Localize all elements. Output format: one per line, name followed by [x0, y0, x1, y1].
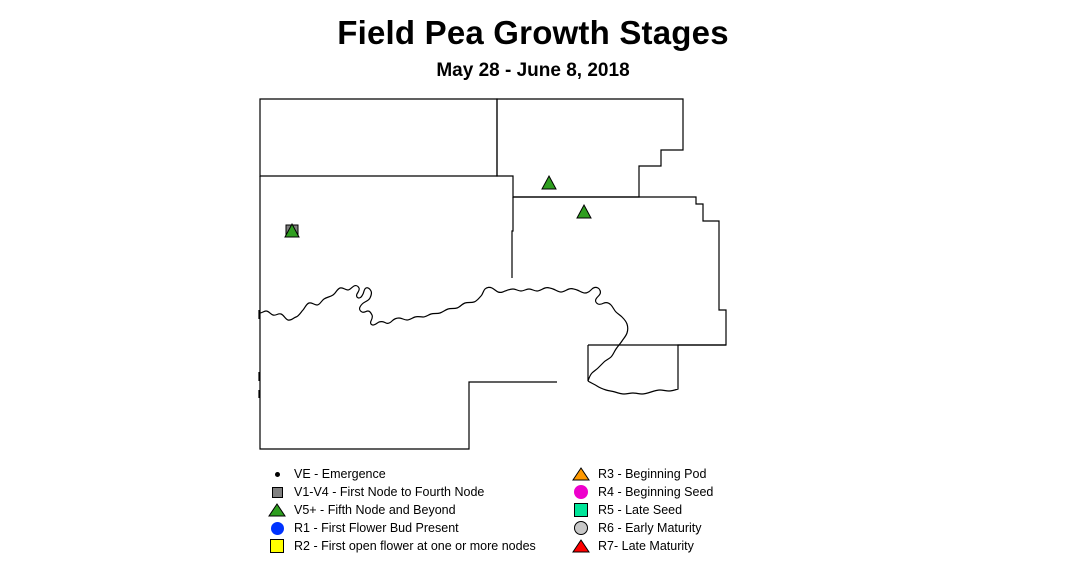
- legend-label-v1v4: V1-V4 - First Node to Fourth Node: [294, 486, 484, 499]
- legend-label-r6: R6 - Early Maturity: [598, 522, 702, 535]
- square-spring-icon: [570, 502, 592, 518]
- circle-gray-icon: [570, 520, 592, 536]
- legend-item-r4[interactable]: R4 - Beginning Seed: [570, 483, 713, 501]
- square-gray-icon: [266, 484, 288, 500]
- legend-label-v5: V5+ - Fifth Node and Beyond: [294, 504, 456, 517]
- triangle-green-icon: [266, 502, 288, 518]
- legend-item-r1[interactable]: R1 - First Flower Bud Present: [266, 519, 536, 537]
- triangle-green-icon: [577, 205, 591, 218]
- page-root: Field Pea Growth Stages May 28 - June 8,…: [0, 0, 1066, 587]
- legend-label-r5: R5 - Late Seed: [598, 504, 682, 517]
- legend-column-right: R3 - Beginning Pod R4 - Beginning Seed R…: [570, 465, 713, 555]
- legend-item-v5[interactable]: V5+ - Fifth Node and Beyond: [266, 501, 536, 519]
- legend-item-ve[interactable]: VE - Emergence: [266, 465, 536, 483]
- legend-label-r1: R1 - First Flower Bud Present: [294, 522, 459, 535]
- legend-item-v1v4[interactable]: V1-V4 - First Node to Fourth Node: [266, 483, 536, 501]
- map-marker-site-3[interactable]: [577, 205, 591, 218]
- legend-item-r6[interactable]: R6 - Early Maturity: [570, 519, 713, 537]
- legend-item-r2[interactable]: R2 - First open flower at one or more no…: [266, 537, 536, 555]
- map-marker-site-1[interactable]: [285, 224, 299, 237]
- circle-magenta-icon: [570, 484, 592, 500]
- triangle-red-icon: [570, 538, 592, 554]
- legend-label-ve: VE - Emergence: [294, 468, 386, 481]
- square-yellow-icon: [266, 538, 288, 554]
- legend-column-left: VE - Emergence V1-V4 - First Node to Fou…: [266, 465, 536, 555]
- legend-item-r3[interactable]: R3 - Beginning Pod: [570, 465, 713, 483]
- legend-label-r4: R4 - Beginning Seed: [598, 486, 713, 499]
- dot-icon: [266, 466, 288, 482]
- legend-label-r7: R7- Late Maturity: [598, 540, 694, 553]
- legend-item-r7[interactable]: R7- Late Maturity: [570, 537, 713, 555]
- legend-item-r5[interactable]: R5 - Late Seed: [570, 501, 713, 519]
- triangle-green-icon: [542, 176, 556, 189]
- triangle-orange-icon: [570, 466, 592, 482]
- legend-label-r2: R2 - First open flower at one or more no…: [294, 540, 536, 553]
- map-marker-site-2[interactable]: [542, 176, 556, 189]
- legend-label-r3: R3 - Beginning Pod: [598, 468, 706, 481]
- circle-blue-icon: [266, 520, 288, 536]
